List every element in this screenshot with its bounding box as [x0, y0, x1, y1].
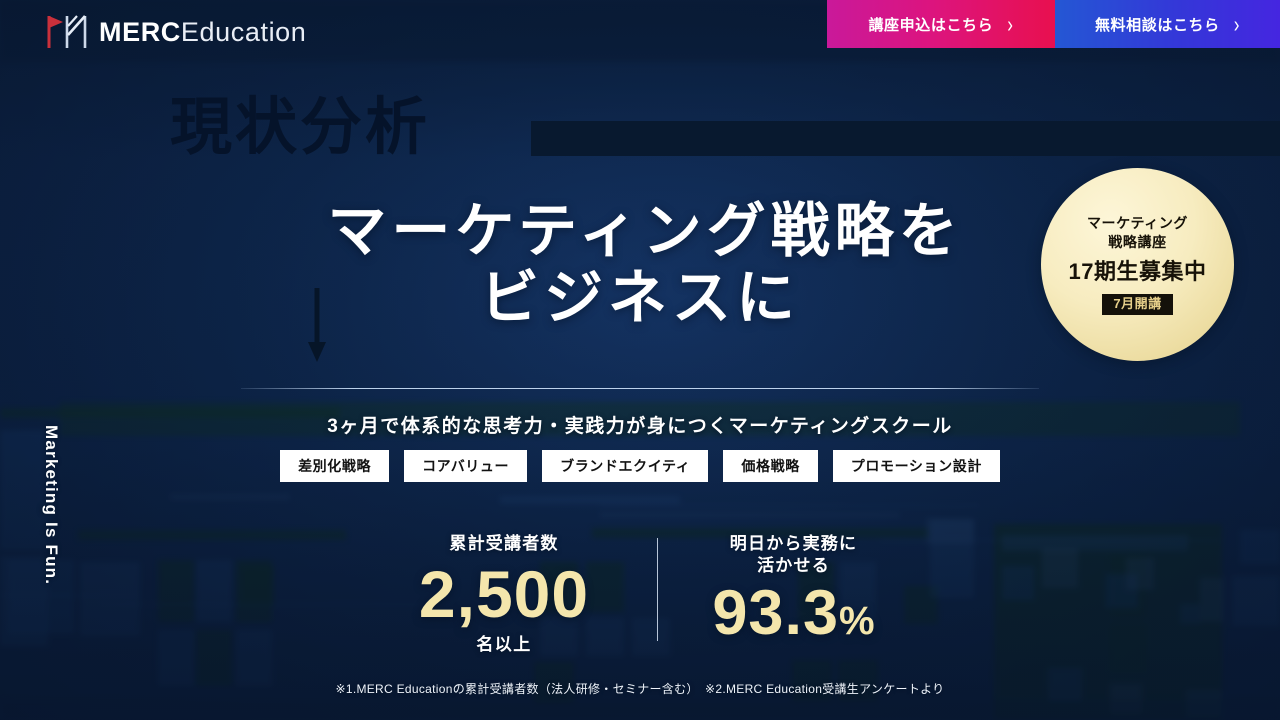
stats-separator: [657, 538, 658, 641]
hero-subtitle: 3ヶ月で体系的な思考力・実践力が身につくマーケティングスクール: [0, 411, 1280, 438]
apply-button[interactable]: 講座申込はこちら ›: [827, 0, 1055, 48]
consult-button[interactable]: 無料相談はこちら ›: [1055, 0, 1280, 48]
topic-tag-4[interactable]: プロモーション設計: [833, 450, 1000, 482]
topic-tag-2[interactable]: ブランドエクイティ: [542, 450, 708, 482]
stat-label-line2: 活かせる: [757, 555, 830, 577]
consult-button-label: 無料相談はこちら: [1095, 14, 1220, 35]
stat-cumulative-students: 累計受講者数 2,500 名以上: [379, 533, 629, 655]
chevron-right-icon: ›: [1007, 13, 1013, 36]
vertical-tagline: Marketing Is Fun.: [39, 425, 61, 585]
hero-section: 現状分析 マーケティング戦略を ビジネスに マーケティング 戦略講座 17期生募…: [0, 0, 1280, 720]
topic-tag-list: 差別化戦略 コアバリュー ブランドエクイティ 価格戦略 プロモーション設計: [0, 450, 1280, 482]
site-header: MERCEducation 講座申込はこちら › 無料相談はこちら ›: [0, 0, 1280, 48]
stat-value: 2,500: [419, 561, 589, 627]
stat-label: 累計受講者数: [449, 533, 558, 555]
topic-tag-3[interactable]: 価格戦略: [723, 450, 817, 482]
chevron-right-icon: ›: [1234, 13, 1240, 36]
merc-monogram-icon: [44, 13, 90, 51]
logo-light-text: Education: [181, 17, 307, 47]
eyebrow-heading: 現状分析: [170, 97, 430, 159]
topic-tag-0[interactable]: 差別化戦略: [280, 450, 389, 482]
stat-suffix: 名以上: [476, 630, 531, 655]
eyebrow-dark-bar: [531, 121, 1280, 156]
stat-value: 93.3: [712, 578, 839, 648]
badge-start-chip: 7月開講: [1102, 294, 1172, 316]
stat-practical-rate: 明日から実務に 活かせる 93.3%: [686, 533, 901, 645]
hero-page: MERCEducation 講座申込はこちら › 無料相談はこちら › 現状分析…: [0, 0, 1280, 720]
course-badge: マーケティング 戦略講座 17期生募集中 7月開講: [1041, 168, 1234, 361]
stat-value-group: 93.3%: [712, 582, 874, 645]
section-divider: [241, 388, 1039, 389]
badge-line1: マーケティング: [1087, 214, 1188, 234]
brand-logo[interactable]: MERCEducation: [44, 14, 306, 50]
logo-wordmark: MERCEducation: [99, 19, 306, 46]
stat-unit: %: [839, 599, 875, 643]
badge-line2: 戦略講座: [1108, 233, 1166, 253]
apply-button-label: 講座申込はこちら: [868, 14, 993, 35]
topic-tag-1[interactable]: コアバリュー: [404, 450, 527, 482]
stat-label-line1: 明日から実務に: [730, 533, 857, 555]
logo-bold-text: MERC: [99, 17, 181, 47]
stats-row: 累計受講者数 2,500 名以上 明日から実務に 活かせる 93.3%: [0, 533, 1280, 655]
footnote-text: ※1.MERC Educationの累計受講者数（法人研修・セミナー含む） ※2…: [0, 680, 1280, 697]
badge-main-text: 17期生募集中: [1069, 260, 1207, 284]
